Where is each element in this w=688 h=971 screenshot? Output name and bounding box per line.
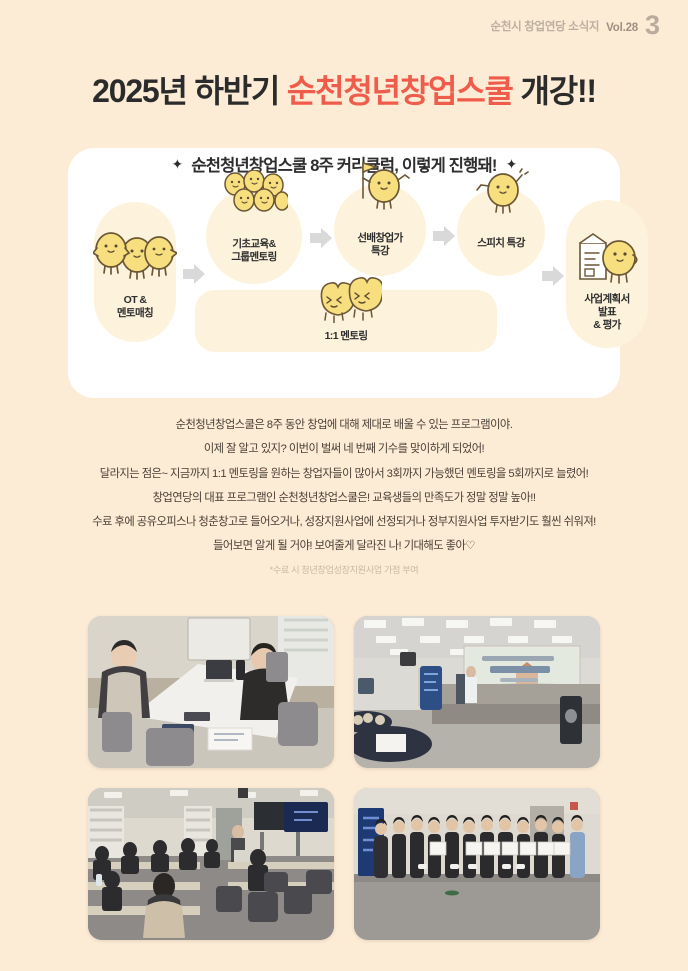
photo-mentoring-meeting — [88, 616, 334, 768]
copy-line: 이제 잘 알고 있지? 이번이 벌써 네 번째 기수를 맞이하게 되었어! — [0, 442, 688, 457]
page-title: 2025년 하반기 순천청년창업스쿨 개강!! — [0, 66, 688, 112]
chick-speaking-icon — [475, 158, 531, 221]
step-senior-founder-lecture: 선배창업가 특강 — [334, 184, 426, 276]
three-chicks-icon — [93, 225, 177, 292]
page-number: 3 — [645, 14, 660, 37]
step-one-on-one-mentoring: 1:1 멘토링 — [195, 268, 497, 352]
newsletter-page: 순천시 창업연당 소식지 Vol.28 3 2025년 하반기 순천청년창업스쿨… — [0, 0, 688, 971]
curriculum-flow: OT & 멘토매칭 — [68, 182, 620, 398]
step-label: 사업계획서 발표 & 평가 — [584, 293, 629, 348]
mentoring-label: 1:1 멘토링 — [325, 328, 368, 352]
copy-line: 창업연당의 대표 프로그램인 순천청년창업스쿨은! 교육생들의 만족도가 정말 … — [0, 491, 688, 506]
arrow-right-icon — [431, 224, 457, 253]
copy-line: 순천청년창업스쿨은 8주 동안 창업에 대해 제대로 배울 수 있는 프로그램이… — [0, 418, 688, 433]
photo-classroom-lecture — [88, 788, 334, 940]
copy-line: 들어보면 알게 될 거야! 보여줄게 달라진 나! 기대해도 좋아♡ — [0, 539, 688, 554]
photo-lecture-hall — [354, 616, 600, 768]
title-tail: 개강!! — [513, 73, 596, 109]
step-business-plan-presentation: 사업계획서 발표 & 평가 — [566, 200, 648, 348]
diamond-ornament-left-icon: ✦ — [171, 156, 182, 173]
title-highlight: 순천청년창업스쿨 — [287, 73, 513, 109]
curriculum-heading: ✦ 순천청년창업스쿨 8주 커리큘럼, 이렇게 진행돼! ✦ — [68, 146, 620, 182]
title-lead: 2025년 하반기 — [92, 73, 287, 109]
photo-gallery — [88, 616, 600, 944]
body-copy: 순천청년창업스쿨은 8주 동안 창업에 대해 제대로 배울 수 있는 프로그램이… — [0, 418, 688, 585]
arrow-right-icon — [181, 262, 207, 291]
step-speech-lecture: 스피치 특강 — [457, 188, 545, 276]
masthead: 순천시 창업연당 소식지 Vol.28 3 — [491, 14, 660, 37]
two-chicks-icon — [310, 277, 382, 328]
curriculum-card: ✦ 순천청년창업스쿨 8주 커리큘럼, 이렇게 진행돼! ✦ — [68, 148, 620, 398]
copy-line: 달라지는 점은~ 지금까지 1:1 멘토링을 원하는 창업자들이 많아서 3회까… — [0, 467, 688, 482]
step-label: OT & 멘토매칭 — [117, 294, 153, 342]
step-ot-matching: OT & 멘토매칭 — [94, 202, 176, 342]
volume-label: Vol.28 — [606, 22, 638, 37]
chick-with-flag-icon — [350, 154, 412, 219]
arrow-right-icon — [308, 226, 334, 255]
copy-footnote: *수료 시 청년창업성장지원사업 가점 부여 — [0, 564, 688, 576]
chick-with-document-icon — [570, 227, 644, 292]
chick-group-icon — [222, 170, 288, 225]
publication-name: 순천시 창업연당 소식지 — [491, 18, 600, 37]
arrow-right-icon — [540, 264, 566, 293]
photo-graduation-group — [354, 788, 600, 940]
copy-line: 수료 후에 공유오피스나 청춘창고로 들어오거나, 성장지원사업에 선정되거나 … — [0, 515, 688, 530]
